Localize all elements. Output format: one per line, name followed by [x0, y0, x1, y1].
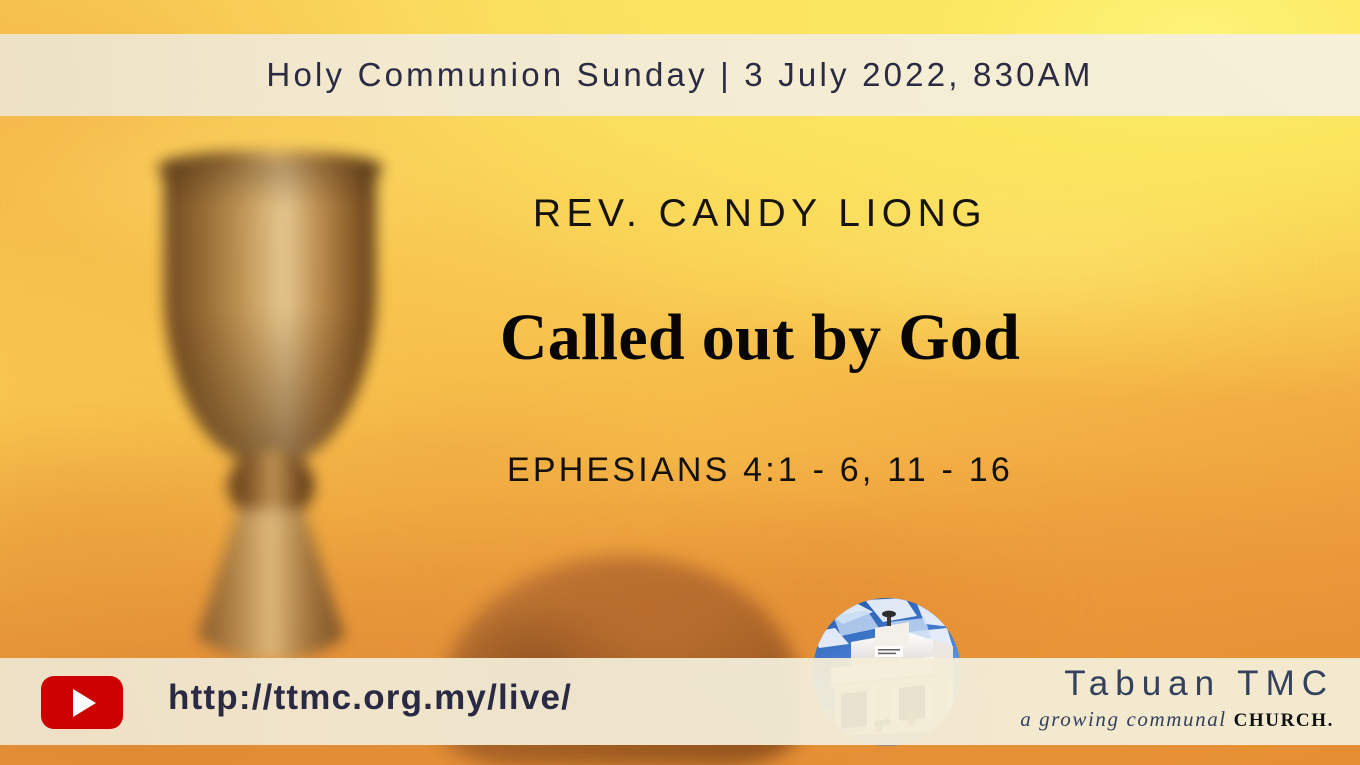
- play-triangle-icon: [73, 689, 96, 717]
- service-banner-text: Holy Communion Sunday | 3 July 2022, 830…: [266, 56, 1093, 94]
- scripture-reference: EPHESIANS 4:1 - 6, 11 - 16: [390, 376, 1130, 490]
- sermon-announcement-slide: Holy Communion Sunday | 3 July 2022, 830…: [0, 0, 1360, 765]
- chalice-foot: [190, 508, 352, 660]
- service-banner: Holy Communion Sunday | 3 July 2022, 830…: [0, 34, 1360, 116]
- communion-chalice-image: [150, 130, 390, 660]
- church-wordmark: Tabuan TMC a growing communal CHURCH.: [1020, 666, 1334, 732]
- speaker-name: REV. CANDY LIONG: [390, 150, 1130, 236]
- sermon-details: REV. CANDY LIONG Called out by God EPHES…: [390, 150, 1130, 580]
- church-tagline: a growing communal CHURCH.: [1020, 708, 1334, 732]
- youtube-play-icon[interactable]: [41, 676, 123, 729]
- church-name: Tabuan TMC: [1020, 666, 1334, 703]
- livestream-url[interactable]: http://ttmc.org.my/live/: [168, 678, 572, 718]
- chalice-bowl: [164, 164, 376, 464]
- sermon-title: Called out by God: [390, 236, 1130, 376]
- church-tagline-caps: CHURCH.: [1234, 710, 1334, 731]
- church-tagline-italic: a growing communal: [1020, 707, 1233, 731]
